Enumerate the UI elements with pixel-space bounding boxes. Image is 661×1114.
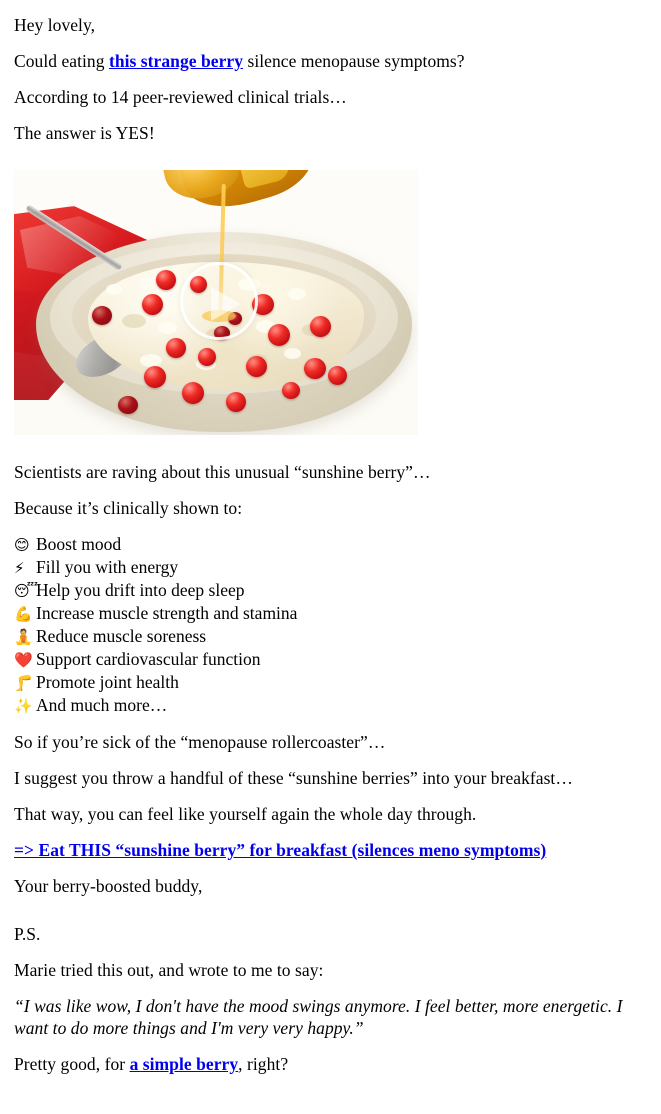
that-way-text: That way, you can feel like yourself aga… <box>14 803 647 825</box>
hook-prefix: Could eating <box>14 51 109 71</box>
spacer <box>14 789 647 803</box>
signoff-text: Your berry-boosted buddy, <box>14 875 647 897</box>
benefits-list: 😊Boost mood ⚡Fill you with energy 😴Help … <box>14 533 647 717</box>
sparkles-emoji: ✨ <box>14 695 36 717</box>
berry <box>226 392 246 412</box>
berry <box>182 382 204 404</box>
benefit-label: Promote joint health <box>36 671 179 693</box>
video-thumbnail[interactable] <box>14 170 418 435</box>
berry <box>304 358 326 379</box>
spacer <box>14 1039 647 1053</box>
berry <box>118 396 138 414</box>
testimonial-text: “I was like wow, I don't have the mood s… <box>14 995 632 1039</box>
benefit-label: Fill you with energy <box>36 556 178 578</box>
berry <box>142 294 163 315</box>
spacer <box>14 36 647 50</box>
closer-suffix: , right? <box>238 1054 288 1074</box>
spacer <box>14 861 647 875</box>
berry <box>156 270 176 290</box>
spacer <box>14 717 647 731</box>
spacer <box>14 108 647 122</box>
hook-paragraph: Could eating this strange berry silence … <box>14 50 647 72</box>
list-item: 😴Help you drift into deep sleep <box>14 579 647 602</box>
email-body: Hey lovely, Could eating this strange be… <box>0 0 661 1075</box>
closer-prefix: Pretty good, for <box>14 1054 130 1074</box>
play-triangle-icon <box>211 287 241 321</box>
list-item: ✨And much more… <box>14 694 647 717</box>
spacer <box>14 753 647 767</box>
benefit-label: Support cardiovascular function <box>36 648 261 670</box>
berry <box>166 338 186 358</box>
sleeping-face-emoji: 😴 <box>14 580 36 602</box>
sick-of-text: So if you’re sick of the “menopause roll… <box>14 731 647 753</box>
spacer <box>14 897 647 923</box>
benefit-label: Help you drift into deep sleep <box>36 579 245 601</box>
spacer <box>14 945 647 959</box>
benefit-label: Boost mood <box>36 533 121 555</box>
berry <box>198 348 216 366</box>
spacer <box>14 72 647 86</box>
cta-paragraph: => Eat THIS “sunshine berry” for breakfa… <box>14 839 594 861</box>
because-text: Because it’s clinically shown to: <box>14 497 647 519</box>
berry <box>246 356 267 377</box>
cta-link[interactable]: => Eat THIS “sunshine berry” for breakfa… <box>14 840 546 860</box>
berry <box>328 366 347 385</box>
list-item: 💪Increase muscle strength and stamina <box>14 602 647 625</box>
play-button[interactable] <box>180 262 258 340</box>
greeting-text: Hey lovely, <box>14 14 647 36</box>
suggest-text: I suggest you throw a handful of these “… <box>14 767 584 789</box>
benefit-label: Increase muscle strength and stamina <box>36 602 297 624</box>
berry <box>268 324 290 346</box>
spacer <box>14 981 647 995</box>
ps-label: P.S. <box>14 923 647 945</box>
benefit-label: And much more… <box>36 694 167 716</box>
flexed-biceps-emoji: 💪 <box>14 603 36 625</box>
berry <box>92 306 112 325</box>
spacer <box>14 519 647 533</box>
benefit-label: Reduce muscle soreness <box>36 625 206 647</box>
berry <box>282 382 300 399</box>
raving-text: Scientists are raving about this unusual… <box>14 461 647 483</box>
spacer <box>14 825 647 839</box>
hook-suffix: silence menopause symptoms? <box>243 51 465 71</box>
smiling-face-emoji: 😊 <box>14 534 36 556</box>
berry <box>310 316 331 337</box>
ps-intro-text: Marie tried this out, and wrote to me to… <box>14 959 647 981</box>
red-heart-emoji: ❤️ <box>14 649 36 671</box>
list-item: 😊Boost mood <box>14 533 647 556</box>
spacer <box>14 144 647 170</box>
list-item: ❤️Support cardiovascular function <box>14 648 647 671</box>
evidence-text: According to 14 peer-reviewed clinical t… <box>14 86 647 108</box>
list-item: ⚡Fill you with energy <box>14 556 647 579</box>
berry <box>144 366 166 388</box>
answer-text: The answer is YES! <box>14 122 647 144</box>
hook-link[interactable]: this strange berry <box>109 51 243 71</box>
list-item: 🦵Promote joint health <box>14 671 647 694</box>
spacer <box>14 483 647 497</box>
person-meditating-emoji: 🧘 <box>14 626 36 648</box>
closer-link[interactable]: a simple berry <box>130 1054 239 1074</box>
closer-paragraph: Pretty good, for a simple berry, right? <box>14 1053 647 1075</box>
spacer <box>14 435 647 461</box>
high-voltage-emoji: ⚡ <box>14 557 36 579</box>
leg-emoji: 🦵 <box>14 672 36 694</box>
list-item: 🧘Reduce muscle soreness <box>14 625 647 648</box>
